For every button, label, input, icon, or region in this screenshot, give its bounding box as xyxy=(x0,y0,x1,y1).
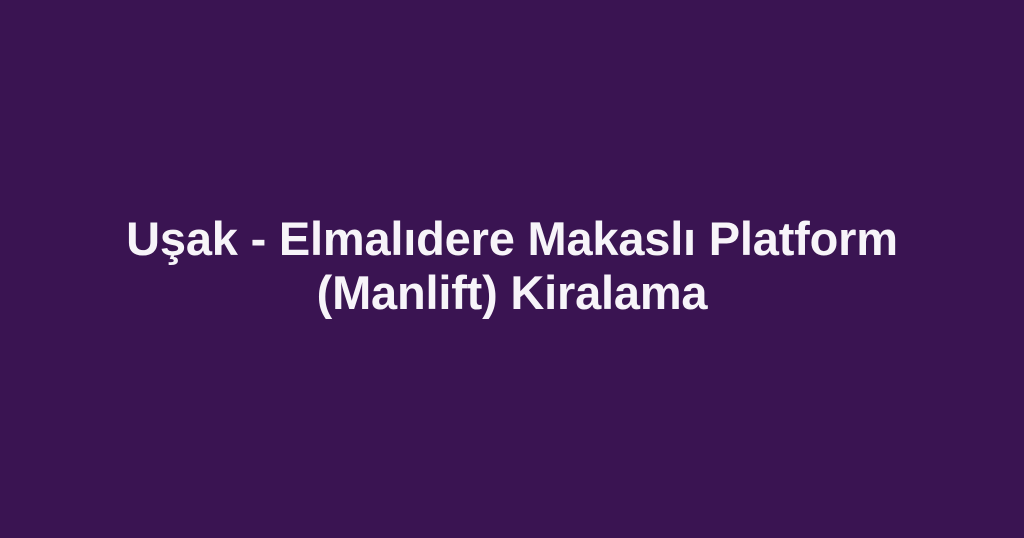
page-title: Uşak - Elmalıdere Makaslı Platform (Manl… xyxy=(117,212,907,320)
headline-block: Uşak - Elmalıdere Makaslı Platform (Manl… xyxy=(117,212,907,326)
share-card: Uşak - Elmalıdere Makaslı Platform (Manl… xyxy=(0,0,1024,538)
